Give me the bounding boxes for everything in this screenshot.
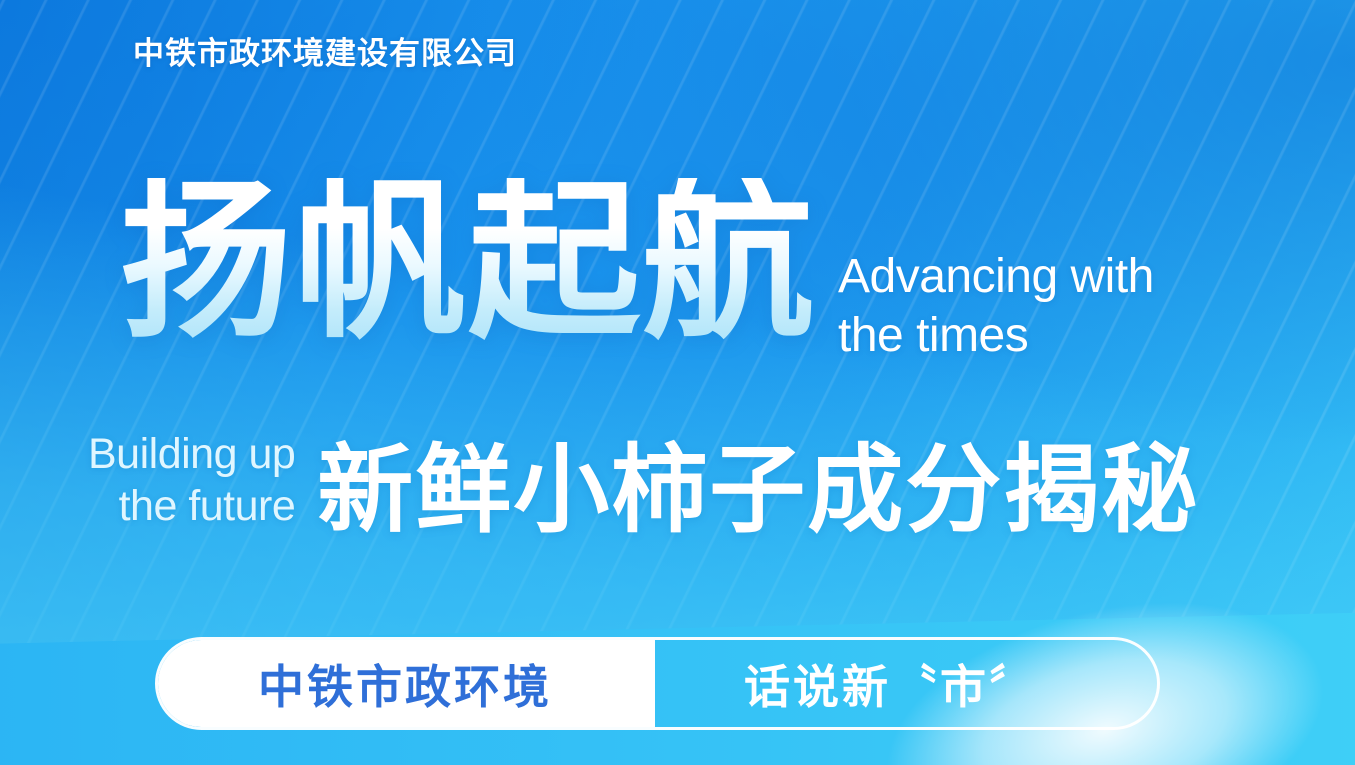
headline-english-line-1: Advancing with [838, 248, 1154, 307]
company-name: 中铁市政环境建设有限公司 [133, 28, 517, 73]
subtitle-english: Building up the future [88, 428, 295, 539]
subtitle-chinese: 新鲜小柿子成分揭秘 [317, 443, 1199, 539]
subtitle-block: Building up the future 新鲜小柿子成分揭秘 [88, 428, 1199, 539]
headline-english: Advancing with the times [838, 248, 1154, 365]
headline-block: 扬帆起航 Advancing with the times [120, 178, 1154, 365]
segmented-pill[interactable]: 中铁市政环境 话说新〝市〞 [155, 637, 1160, 730]
pill-segment-column-title[interactable]: 话说新〝市〞 [655, 640, 1157, 727]
headline-chinese: 扬帆起航 [120, 178, 816, 347]
headline-english-line-2: the times [838, 307, 1154, 366]
subtitle-english-line-2: the future [88, 480, 295, 532]
subtitle-english-line-1: Building up [88, 428, 295, 480]
poster-canvas: 中铁市政环境建设有限公司 扬帆起航 Advancing with the tim… [0, 0, 1355, 765]
pill-segment-company[interactable]: 中铁市政环境 [155, 637, 655, 730]
